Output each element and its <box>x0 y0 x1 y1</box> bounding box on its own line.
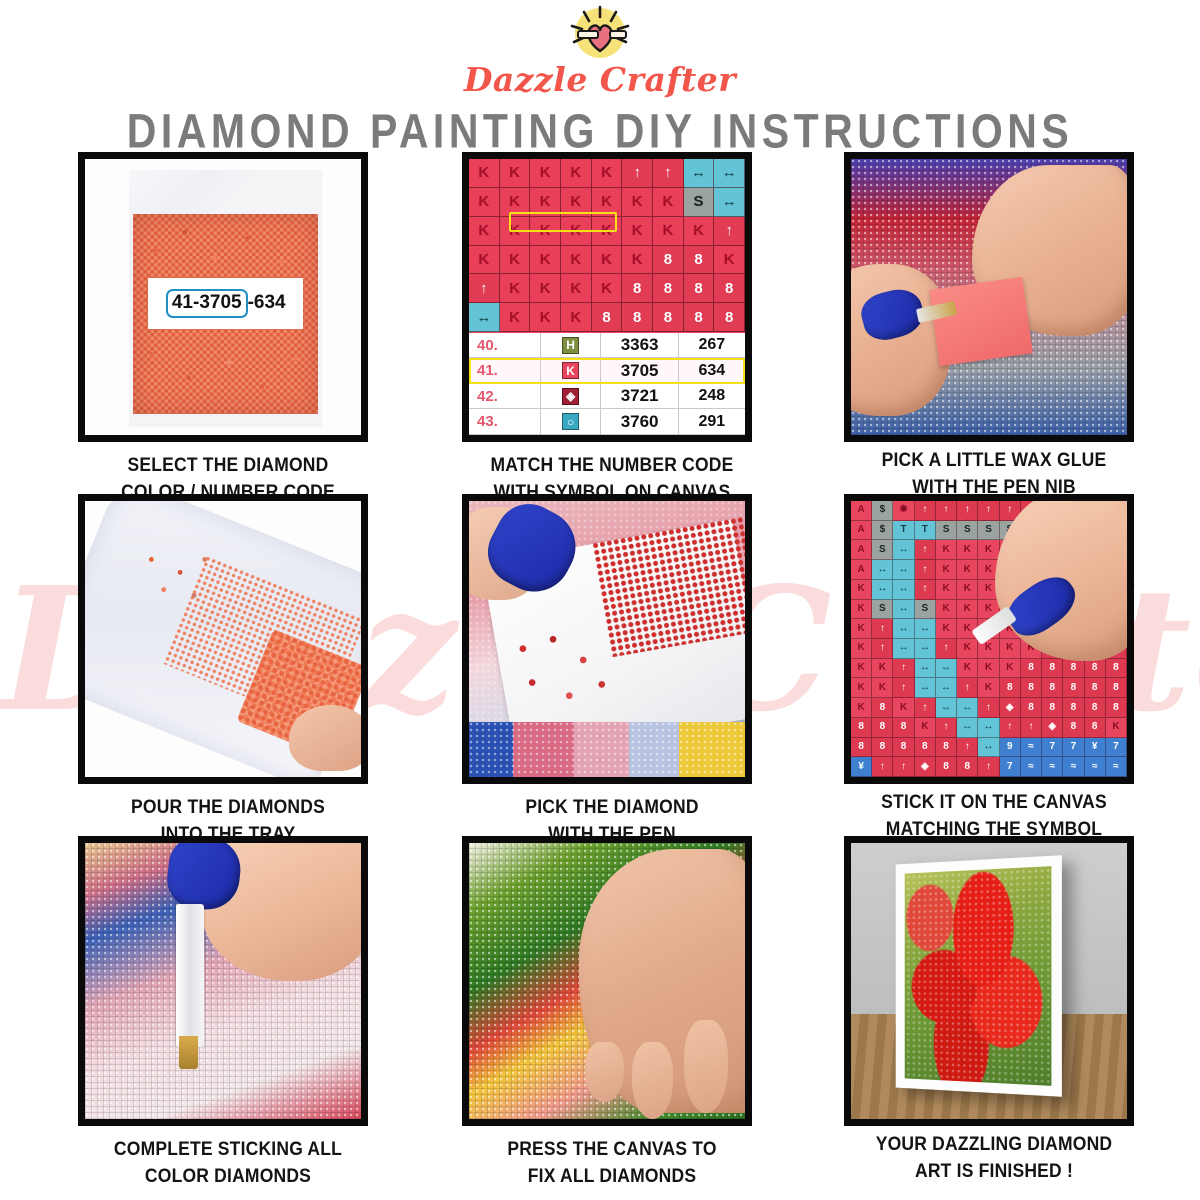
canvas-symbol-chart: K K K K K ↑ ↑ ↔ ↔ K K <box>469 159 745 333</box>
chart-cell: ↔ <box>684 159 715 188</box>
chart-cell: K <box>500 159 531 188</box>
legend-row: 40. H 3363 267 <box>469 333 745 359</box>
symbol-grid-row: KK↑↔↔↑K888888 <box>851 678 1127 698</box>
symbol-grid-cell: K <box>957 639 978 659</box>
symbol-grid-cell: ↑ <box>915 698 936 718</box>
symbol-grid-cell: K <box>936 560 957 580</box>
chart-cell: K <box>530 159 561 188</box>
symbol-grid-cell: 8 <box>957 757 978 777</box>
diamonds-in-tray-photo <box>85 501 361 777</box>
symbol-grid-cell: ↔ <box>915 659 936 679</box>
symbol-grid-cell: K <box>978 659 999 679</box>
chart-cell: K <box>592 274 623 303</box>
legend-symbol: ◈ <box>541 384 602 409</box>
step-4-photo-frame <box>78 494 368 784</box>
symbol-grid-cell: ↑ <box>872 757 893 777</box>
symbol-grid-cell: ↑ <box>957 678 978 698</box>
chart-cell: K <box>561 188 592 217</box>
legend-count: 267 <box>679 333 745 358</box>
symbol-grid-cell: ↑ <box>957 738 978 758</box>
symbol-grid-cell: ◈ <box>915 757 936 777</box>
symbol-grid-cell: ↑ <box>872 619 893 639</box>
symbol-grid-cell: 8 <box>1042 698 1063 718</box>
symbol-grid-cell: T <box>915 521 936 541</box>
bag-code-text: 41-3705-634 <box>166 289 286 318</box>
bag-code-suffix: -634 <box>248 292 286 314</box>
symbol-grid-cell: ↑ <box>893 659 914 679</box>
caption-line-1: STICK IT ON THE CANVAS <box>844 789 1144 815</box>
symbol-grid-cell: T <box>893 521 914 541</box>
symbol-grid-cell: ✹ <box>893 501 914 521</box>
symbol-grid-cell: K <box>957 540 978 560</box>
chart-cell: K <box>530 217 561 246</box>
symbol-grid-cell: ↔ <box>893 600 914 620</box>
step-6-caption: STICK IT ON THE CANVAS MATCHING THE SYMB… <box>844 789 1144 842</box>
bag-label: 41-3705-634 <box>148 278 303 329</box>
symbol-grid-cell: ↔ <box>936 698 957 718</box>
chart-cell: ↔ <box>714 188 745 217</box>
chart-cell: 8 <box>622 303 653 332</box>
symbol-grid-cell: ↔ <box>978 718 999 738</box>
complete-sticking-photo <box>85 843 361 1119</box>
symbol-grid-cell: ↑ <box>915 501 936 521</box>
symbol-grid-cell: ↑ <box>978 698 999 718</box>
pen-barrel <box>176 904 204 1048</box>
chart-cell: 8 <box>684 274 715 303</box>
symbol-grid-cell: ↑ <box>872 639 893 659</box>
symbol-grid-cell: 8 <box>872 738 893 758</box>
legend-row: 42. ◈ 3721 248 <box>469 384 745 410</box>
symbol-grid-cell: K <box>851 600 872 620</box>
symbol-grid-cell: ◈ <box>1042 718 1063 738</box>
symbol-grid-cell: 8 <box>1063 698 1084 718</box>
symbol-grid-row: KK↑↔↔KKK88888 <box>851 659 1127 679</box>
bead-texture <box>895 855 1061 1096</box>
symbol-grid-cell: ↔ <box>872 580 893 600</box>
symbol-grid-cell: 8 <box>1021 698 1042 718</box>
step-6-photo-frame: A$✹↑↑↑↑↑↑↑↑KKA$TTSSSSS↔↔SKAS↔↑KKKK↑↔↔↔KA… <box>844 494 1134 784</box>
symbol-grid-cell: 8 <box>1085 678 1106 698</box>
chart-cell: 8 <box>653 303 684 332</box>
chart-cell: 8 <box>714 274 745 303</box>
symbol-grid-cell: ↔ <box>936 659 957 679</box>
heart-with-sun-rays-icon <box>564 4 636 62</box>
chart-cell: K <box>500 217 531 246</box>
symbol-grid-cell: ↔ <box>893 639 914 659</box>
symbol-grid-cell: ↔ <box>893 540 914 560</box>
symbol-grid-cell: 8 <box>1085 718 1106 738</box>
symbol-grid-cell: 8 <box>893 738 914 758</box>
caption-line-1: PRESS THE CANVAS TO <box>462 1136 762 1162</box>
caption-line-1: MATCH THE NUMBER CODE <box>462 452 762 478</box>
symbol-grid-cell: ≈ <box>1021 757 1042 777</box>
symbol-grid-cell: K <box>851 678 872 698</box>
poppy-artwork <box>904 866 1051 1086</box>
symbol-grid-cell: 8 <box>1063 659 1084 679</box>
chart-cell: 8 <box>714 303 745 332</box>
bag-of-diamonds-photo: 41-3705-634 <box>85 159 361 435</box>
step-7-caption: COMPLETE STICKING ALL COLOR DIAMONDS <box>78 1136 378 1189</box>
chart-cell: 8 <box>622 274 653 303</box>
symbol-grid-cell: A <box>851 501 872 521</box>
legend-swatch: K <box>562 362 579 379</box>
step-card-5: PICK THE DIAMOND WITH THE PEN <box>462 494 762 841</box>
symbol-grid-cell: ≈ <box>1042 757 1063 777</box>
chart-cell: K <box>561 159 592 188</box>
symbol-grid-cell: 8 <box>893 718 914 738</box>
symbol-grid-cell: ↑ <box>915 540 936 560</box>
symbol-grid-cell: A <box>851 540 872 560</box>
chart-cell: K <box>561 246 592 275</box>
symbol-grid-cell: ¥ <box>851 757 872 777</box>
caption-line-1: POUR THE DIAMONDS <box>78 794 378 820</box>
chart-cell: K <box>684 217 715 246</box>
step-1-photo-frame: 41-3705-634 <box>78 152 368 442</box>
chart-cell: S <box>684 188 715 217</box>
pen-picking-diamond-photo <box>469 501 745 777</box>
chart-cell: ↔ <box>469 303 500 332</box>
symbol-grid-cell: K <box>957 659 978 679</box>
chart-row: K K K K K K K K ↑ <box>469 217 745 246</box>
legend-symbol: ○ <box>541 409 602 434</box>
chart-cell: K <box>500 188 531 217</box>
symbol-grid-cell: ≈ <box>1085 757 1106 777</box>
symbol-grid-cell: 8 <box>851 718 872 738</box>
symbol-grid-cell: ↑ <box>915 580 936 600</box>
symbol-grid-cell: ↔ <box>893 560 914 580</box>
chart-cell: K <box>622 217 653 246</box>
chart-cell: ↑ <box>622 159 653 188</box>
symbol-grid-cell: ↑ <box>936 501 957 521</box>
symbol-grid-cell: 8 <box>1106 698 1127 718</box>
symbol-grid-cell: ↔ <box>978 738 999 758</box>
chart-cell: 8 <box>653 246 684 275</box>
caption-line-1: SELECT THE DIAMOND <box>78 452 378 478</box>
step-3-caption: PICK A LITTLE WAX GLUE WITH THE PEN NIB <box>844 447 1144 500</box>
symbol-grid-cell: K <box>1106 718 1127 738</box>
wax-glue-square <box>929 277 1033 367</box>
caption-line-1: COMPLETE STICKING ALL <box>78 1136 378 1162</box>
canvas-edge <box>469 722 745 777</box>
symbol-grid-cell: ↔ <box>872 560 893 580</box>
symbol-grid-cell: ≈ <box>1021 738 1042 758</box>
legend-count: 248 <box>679 384 745 409</box>
symbol-grid-cell: ↑ <box>1000 718 1021 738</box>
caption-line-2: COLOR DIAMONDS <box>78 1162 378 1188</box>
symbol-grid-cell: 7 <box>1000 757 1021 777</box>
step-card-8: PRESS THE CANVAS TO FIX ALL DIAMONDS <box>462 836 762 1183</box>
chart-cell: K <box>469 188 500 217</box>
header: Dazzle Crafter DIAMOND PAINTING DIY INST… <box>0 0 1200 99</box>
finished-framed-art-photo <box>851 843 1127 1119</box>
symbol-grid-cell: K <box>957 600 978 620</box>
caption-line-1: PICK A LITTLE WAX GLUE <box>844 447 1144 473</box>
symbol-grid-cell: A <box>851 560 872 580</box>
legend-count: 634 <box>679 358 745 383</box>
chart-cell: K <box>592 188 623 217</box>
step-5-photo-frame <box>462 494 752 784</box>
color-legend-table: 40. H 3363 267 41. K 3705 <box>469 333 745 435</box>
step-9-caption: YOUR DAZZLING DIAMOND ART IS FINISHED ! <box>844 1131 1144 1184</box>
hand-holding-tray <box>289 705 361 771</box>
instruction-sheet: Dazzle Crafter Dazzle Crafter <box>0 0 1200 1200</box>
symbol-grid-cell: K <box>851 580 872 600</box>
symbol-grid-cell: ↑ <box>893 757 914 777</box>
step-2-photo-frame: K K K K K ↑ ↑ ↔ ↔ K K <box>462 152 752 442</box>
chart-cell: ↑ <box>714 217 745 246</box>
chart-cell: K <box>561 217 592 246</box>
symbol-grid-cell: ≈ <box>1106 757 1127 777</box>
symbol-grid-cell: K <box>872 678 893 698</box>
wax-glue-with-pen-nib-photo <box>851 159 1127 435</box>
chart-cell: ↑ <box>653 159 684 188</box>
symbol-grid-cell: 7 <box>1106 738 1127 758</box>
legend-symbol: H <box>541 333 602 358</box>
legend-number: 43. <box>469 409 541 434</box>
step-card-3: PICK A LITTLE WAX GLUE WITH THE PEN NIB <box>844 152 1144 494</box>
symbol-grid-cell: ↔ <box>915 639 936 659</box>
symbol-grid-cell: K <box>1000 659 1021 679</box>
symbol-grid-row: ¥↑↑◈88↑7≈≈≈≈≈ <box>851 757 1127 777</box>
symbol-grid-cell: K <box>978 540 999 560</box>
sticking-diamond-on-canvas-photo: A$✹↑↑↑↑↑↑↑↑KKA$TTSSSSS↔↔SKAS↔↑KKKK↑↔↔↔KA… <box>851 501 1127 777</box>
symbol-grid-cell: S <box>936 521 957 541</box>
step-card-7: COMPLETE STICKING ALL COLOR DIAMONDS <box>78 836 378 1183</box>
symbol-grid-row: 88888↑↔9≈77¥7 <box>851 738 1127 758</box>
symbol-grid-cell: ↔ <box>893 619 914 639</box>
chart-cell: K <box>530 303 561 332</box>
symbol-grid-cell: ↔ <box>957 698 978 718</box>
chart-cell: K <box>500 246 531 275</box>
symbol-grid-cell: ↑ <box>915 560 936 580</box>
page-title: DIAMOND PAINTING DIY INSTRUCTIONS <box>0 104 1200 159</box>
symbol-grid-cell: 7 <box>1042 738 1063 758</box>
step-3-photo-frame <box>844 152 1134 442</box>
chart-cell: K <box>561 303 592 332</box>
legend-number: 40. <box>469 333 541 358</box>
chart-cell: K <box>714 246 745 275</box>
chart-cell: 8 <box>684 246 715 275</box>
logo <box>0 0 1200 62</box>
symbol-grid-cell: ↑ <box>978 757 999 777</box>
symbol-grid-cell: S <box>957 521 978 541</box>
legend-row-highlighted: 41. K 3705 634 <box>469 358 745 384</box>
symbol-grid-cell: 8 <box>936 738 957 758</box>
chart-cell: K <box>530 246 561 275</box>
chart-cell: 8 <box>592 303 623 332</box>
chart-cell: K <box>561 274 592 303</box>
symbol-grid-cell: ↔ <box>915 678 936 698</box>
symbol-grid-cell: S <box>872 600 893 620</box>
legend-swatch: H <box>562 337 579 354</box>
symbol-grid-cell: K <box>978 678 999 698</box>
symbol-grid-cell: 8 <box>872 698 893 718</box>
chart-row: ↔ K K K 8 8 8 8 8 <box>469 303 745 332</box>
symbol-grid-cell: K <box>915 718 936 738</box>
chart-cell: K <box>592 246 623 275</box>
chart-cell: K <box>653 188 684 217</box>
symbol-grid-cell: 8 <box>936 757 957 777</box>
legend-code: 3705 <box>601 358 678 383</box>
step-card-6: A$✹↑↑↑↑↑↑↑↑KKA$TTSSSSS↔↔SKAS↔↑KKKK↑↔↔↔KA… <box>844 494 1144 836</box>
symbol-grid-cell: 8 <box>1042 659 1063 679</box>
steps-grid: 41-3705-634 SELECT THE DIAMOND COLOR / N… <box>60 152 1140 1192</box>
brand-name: Dazzle Crafter <box>0 60 1200 99</box>
chart-row: K K K K K ↑ ↑ ↔ ↔ <box>469 159 745 188</box>
caption-line-1: PICK THE DIAMOND <box>462 794 762 820</box>
symbol-grid-cell: 8 <box>1021 678 1042 698</box>
chart-cell: K <box>592 159 623 188</box>
legend-number: 41. <box>469 358 541 383</box>
symbol-grid-cell: 8 <box>851 738 872 758</box>
symbol-grid-row: 888K↑↔↔↑↑◈88K <box>851 718 1127 738</box>
step-8-caption: PRESS THE CANVAS TO FIX ALL DIAMONDS <box>462 1136 762 1189</box>
symbol-grid-cell: ◈ <box>1000 698 1021 718</box>
symbol-grid-cell: K <box>957 560 978 580</box>
symbol-grid-cell: 8 <box>1000 678 1021 698</box>
legend-code: 3760 <box>601 409 678 434</box>
symbol-grid-cell: K <box>851 659 872 679</box>
pen-tip <box>179 1036 198 1069</box>
symbol-grid-cell: K <box>936 540 957 560</box>
chart-cell: 8 <box>684 303 715 332</box>
chart-cell: K <box>622 188 653 217</box>
symbol-grid-cell: K <box>936 619 957 639</box>
symbol-grid-cell: K <box>872 659 893 679</box>
symbol-grid-cell: 8 <box>915 738 936 758</box>
loose-diamonds <box>502 628 618 722</box>
symbol-grid-cell: ↔ <box>915 619 936 639</box>
diamond-bag: 41-3705-634 <box>129 170 322 427</box>
symbol-grid-cell: ↑ <box>1021 718 1042 738</box>
legend-code: 3721 <box>601 384 678 409</box>
symbol-grid-row: K8K↑↔↔↑◈88888 <box>851 698 1127 718</box>
symbol-grid-cell: K <box>893 698 914 718</box>
chart-cell: K <box>500 274 531 303</box>
chart-cell: ↑ <box>469 274 500 303</box>
canvas-chart-with-legend-photo: K K K K K ↑ ↑ ↔ ↔ K K <box>469 159 745 435</box>
symbol-grid-cell: 8 <box>1021 659 1042 679</box>
symbol-grid-cell: K <box>957 580 978 600</box>
step-card-2: K K K K K ↑ ↑ ↔ ↔ K K <box>462 152 762 499</box>
symbol-grid-cell: S <box>872 540 893 560</box>
symbol-grid-cell: S <box>978 521 999 541</box>
finger <box>632 1042 673 1119</box>
symbol-grid-cell: $ <box>872 521 893 541</box>
caption-line-2: ART IS FINISHED ! <box>844 1157 1144 1183</box>
symbol-grid-cell: ¥ <box>1085 738 1106 758</box>
chart-cell: ↔ <box>714 159 745 188</box>
symbol-grid-cell: 8 <box>1106 659 1127 679</box>
chart-cell: K <box>622 246 653 275</box>
symbol-grid-cell: K <box>1000 639 1021 659</box>
symbol-grid-cell: ≈ <box>1063 757 1084 777</box>
picture-frame <box>895 855 1061 1096</box>
symbol-grid-cell: K <box>851 698 872 718</box>
symbol-grid-cell: ↑ <box>978 501 999 521</box>
chart-row: ↑ K K K K 8 8 8 8 <box>469 274 745 303</box>
symbol-grid-cell: 7 <box>1063 738 1084 758</box>
symbol-grid-cell: 8 <box>1085 659 1106 679</box>
symbol-grid-cell: A <box>851 521 872 541</box>
step-card-4: POUR THE DIAMONDS INTO THE TRAY <box>78 494 378 841</box>
caption-line-2: FIX ALL DIAMONDS <box>462 1162 762 1188</box>
symbol-grid-cell: ↑ <box>936 718 957 738</box>
symbol-grid-cell: 8 <box>1106 678 1127 698</box>
legend-number: 42. <box>469 384 541 409</box>
symbol-grid-cell: 8 <box>1042 678 1063 698</box>
chart-cell: K <box>530 274 561 303</box>
caption-line-1: YOUR DAZZLING DIAMOND <box>844 1131 1144 1157</box>
legend-swatch: ○ <box>562 413 579 430</box>
symbol-grid-cell: K <box>851 639 872 659</box>
chart-cell: K <box>530 188 561 217</box>
step-8-photo-frame <box>462 836 752 1126</box>
chart-cell: K <box>592 217 623 246</box>
chart-cell: K <box>653 217 684 246</box>
symbol-grid-cell: S <box>915 600 936 620</box>
symbol-grid-cell: 9 <box>1000 738 1021 758</box>
symbol-grid-cell: ↑ <box>936 639 957 659</box>
legend-row: 43. ○ 3760 291 <box>469 409 745 435</box>
chart-cell: K <box>500 303 531 332</box>
symbol-grid-cell: ↑ <box>957 501 978 521</box>
step-7-photo-frame <box>78 836 368 1126</box>
step-card-1: 41-3705-634 SELECT THE DIAMOND COLOR / N… <box>78 152 378 499</box>
chart-cell: K <box>469 159 500 188</box>
symbol-grid-cell: ↔ <box>893 580 914 600</box>
symbol-grid-cell: 8 <box>1085 698 1106 718</box>
legend-swatch: ◈ <box>562 388 579 405</box>
symbol-grid-cell: K <box>851 619 872 639</box>
step-card-9: YOUR DAZZLING DIAMOND ART IS FINISHED ! <box>844 836 1144 1178</box>
chart-cell: 8 <box>653 274 684 303</box>
symbol-grid-cell: K <box>936 600 957 620</box>
symbol-grid-cell: 8 <box>1063 718 1084 738</box>
symbol-grid-cell: $ <box>872 501 893 521</box>
legend-symbol: K <box>541 358 602 383</box>
symbol-grid-cell: ↔ <box>936 678 957 698</box>
symbol-grid-cell: K <box>936 580 957 600</box>
chart-cell: K <box>469 217 500 246</box>
chart-row: K K K K K K 8 8 K <box>469 246 745 275</box>
press-canvas-photo <box>469 843 745 1119</box>
bag-code-boxed: 41-3705 <box>166 289 248 318</box>
finger <box>585 1042 624 1103</box>
legend-count: 291 <box>679 409 745 434</box>
symbol-grid-cell: ↑ <box>893 678 914 698</box>
chart-row: K K K K K K K S ↔ <box>469 188 745 217</box>
symbol-grid-cell: ↔ <box>957 718 978 738</box>
symbol-grid-cell: 8 <box>872 718 893 738</box>
symbol-grid-cell: 8 <box>1063 678 1084 698</box>
chart-cell: K <box>469 246 500 275</box>
legend-code: 3363 <box>601 333 678 358</box>
step-9-photo-frame <box>844 836 1134 1126</box>
